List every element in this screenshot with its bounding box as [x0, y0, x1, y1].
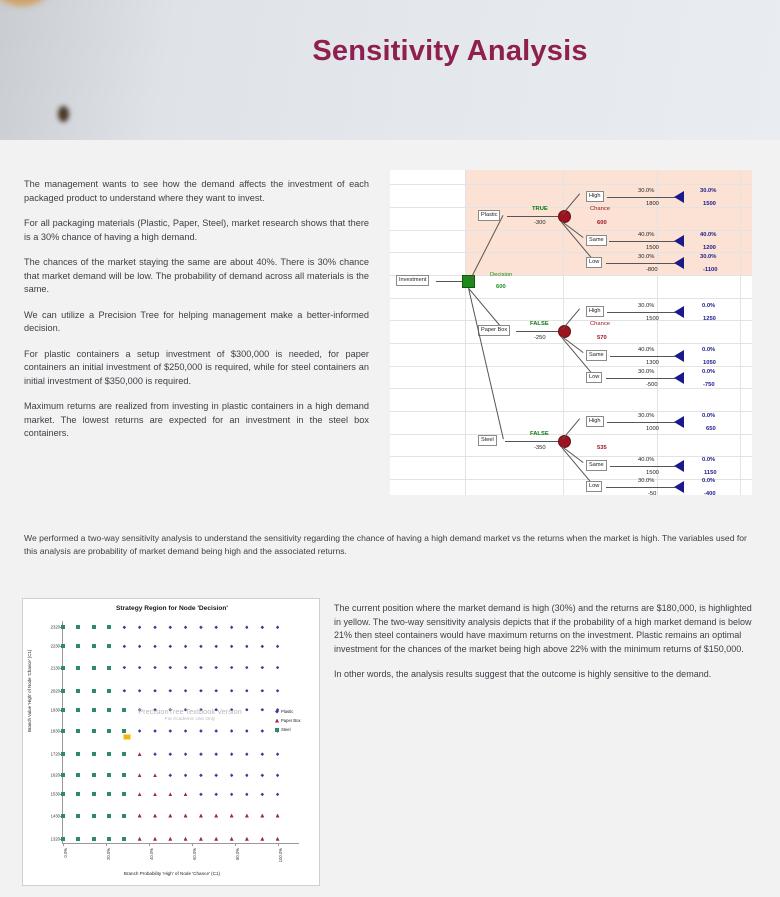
chart-data-point — [276, 814, 280, 818]
chart-data-point — [276, 837, 280, 841]
paper-chance-value: 570 — [597, 335, 607, 341]
chart-data-point — [61, 773, 65, 777]
chart-data-point — [184, 814, 188, 818]
legend-item: Paper Box — [275, 718, 313, 723]
steel-same-payoff: 1500 — [646, 470, 659, 476]
chart-data-point — [245, 708, 249, 712]
tree-root-label[interactable]: Investment — [396, 275, 429, 286]
chart-data-point — [153, 792, 157, 796]
chart-data-point — [76, 708, 80, 712]
paper-high-prob: 30.0% — [638, 303, 654, 309]
intro-text-column: The management wants to see how the dema… — [24, 178, 369, 453]
plastic-low-prob: 30.0% — [638, 254, 654, 260]
chart-data-point — [61, 752, 65, 756]
chart-data-point — [199, 814, 203, 818]
chart-data-point — [199, 752, 203, 756]
end-node — [674, 372, 684, 384]
end-node — [674, 191, 684, 203]
chart-data-point — [107, 666, 111, 670]
chart-data-point — [184, 837, 188, 841]
end-node — [674, 235, 684, 247]
chart-data-point — [199, 708, 203, 712]
chart-data-point — [276, 666, 280, 670]
chart-data-point — [214, 645, 218, 649]
chart-data-point — [261, 774, 265, 778]
chart-data-point — [214, 837, 218, 841]
plastic-same-rprob: 40.0% — [700, 232, 716, 238]
chart-data-point — [214, 689, 218, 693]
steel-outcome-low[interactable]: Low — [586, 481, 602, 492]
chart-data-point — [230, 626, 234, 630]
chart-data-point — [168, 774, 172, 778]
chart-data-point — [153, 773, 157, 777]
steel-same-prob: 40.0% — [638, 457, 654, 463]
x-axis-tick-label: 100.0% — [278, 848, 283, 862]
chart-data-point — [107, 814, 111, 818]
chart-legend: PlasticPaper BoxSteel — [275, 709, 313, 736]
plastic-cost: -300 — [534, 220, 546, 226]
chart-data-point — [276, 645, 280, 649]
chart-data-point — [107, 689, 111, 693]
chart-data-point — [184, 792, 188, 796]
chart-data-point — [168, 837, 172, 841]
chart-data-point — [230, 708, 234, 712]
plastic-same-payoff: 1500 — [646, 245, 659, 251]
chart-data-point — [260, 814, 264, 818]
end-node — [674, 257, 684, 269]
chart-data-point — [122, 708, 126, 712]
legend-item: Steel — [275, 727, 313, 732]
plastic-high-rprob: 30.0% — [700, 188, 716, 194]
end-node — [674, 306, 684, 318]
chart-data-point — [214, 774, 218, 778]
chart-data-point — [230, 645, 234, 649]
steel-low-prob: 30.0% — [638, 478, 654, 484]
chart-data-point — [107, 792, 111, 796]
chart-data-point — [168, 729, 172, 733]
plastic-low-payoff: -800 — [646, 267, 658, 273]
chart-data-point — [184, 666, 188, 670]
chart-data-point — [107, 837, 111, 841]
chart-data-point — [199, 837, 203, 841]
chart-data-point — [199, 774, 203, 778]
chart-data-point — [184, 729, 188, 733]
chart-data-point — [261, 708, 265, 712]
tree-branch-paper-box[interactable]: Paper Box — [478, 325, 510, 336]
chart-data-point — [76, 837, 80, 841]
plastic-outcome-low[interactable]: Low — [586, 257, 602, 268]
chart-data-point — [276, 752, 280, 756]
plastic-same-rpay: 1200 — [703, 245, 716, 251]
chart-data-point — [199, 689, 203, 693]
chart-data-point — [261, 645, 265, 649]
chart-data-point — [153, 729, 157, 733]
paper-low-prob: 30.0% — [638, 369, 654, 375]
chart-data-point — [261, 793, 265, 797]
plastic-high-prob: 30.0% — [638, 188, 654, 194]
steel-outcome-high[interactable]: High — [586, 416, 604, 427]
chart-data-point — [153, 689, 157, 693]
chart-data-point — [123, 626, 127, 630]
paper-same-rprob: 0.0% — [702, 347, 715, 353]
plastic-outcome-same[interactable]: Same — [586, 235, 607, 246]
chart-data-point — [184, 774, 188, 778]
x-axis-tick-mark — [149, 843, 150, 846]
tree-branch-plastic[interactable]: Plastic — [478, 210, 500, 221]
chart-data-point — [245, 645, 249, 649]
x-axis-tick-mark — [278, 843, 279, 846]
chart-data-point — [199, 729, 203, 733]
steel-high-rprob: 0.0% — [702, 413, 715, 419]
chart-data-point — [199, 645, 203, 649]
paper-same-payoff: 1300 — [646, 360, 659, 366]
chart-data-point — [138, 689, 142, 693]
steel-same-rpay: 1150 — [704, 470, 717, 476]
chart-data-point — [168, 645, 172, 649]
strategy-region-chart: Strategy Region for Node 'Decision' Bran… — [22, 598, 320, 886]
steel-low-payoff: -50 — [648, 491, 656, 495]
chart-data-point — [230, 793, 234, 797]
chart-data-point — [245, 837, 249, 841]
chart-data-point — [107, 752, 111, 756]
chart-data-point — [92, 814, 96, 818]
chart-data-point — [230, 837, 234, 841]
analysis-paragraph-2: In other words, the analysis results sug… — [334, 668, 754, 682]
plastic-high-rpay: 1500 — [703, 201, 716, 207]
chart-data-point — [138, 729, 142, 733]
x-axis-tick-label: 40.0% — [149, 848, 154, 860]
page-body: The management wants to see how the dema… — [0, 140, 780, 897]
chart-data-point — [76, 773, 80, 777]
x-axis-tick-mark — [63, 843, 64, 846]
chart-data-point — [76, 666, 80, 670]
chart-data-point — [138, 837, 142, 841]
intro-paragraph-3: The chances of the market staying the sa… — [24, 256, 369, 297]
chart-data-point — [122, 814, 126, 818]
chart-data-point — [245, 793, 249, 797]
intro-paragraph-6: Maximum returns are realized from invest… — [24, 400, 369, 441]
chart-data-point — [276, 689, 280, 693]
chart-data-point — [107, 729, 111, 733]
chart-data-point — [230, 774, 234, 778]
chart-data-point — [76, 644, 80, 648]
y-axis-tick-label: 1430 — [51, 813, 60, 818]
chart-data-point — [245, 774, 249, 778]
chart-data-point — [184, 752, 188, 756]
paper-low-rprob: 0.0% — [702, 369, 715, 375]
y-axis-tick-label: 1530 — [51, 792, 60, 797]
chart-data-point — [230, 689, 234, 693]
decision-node[interactable] — [462, 275, 475, 288]
x-axis-tick-label: 60.0% — [192, 848, 197, 860]
chart-data-point — [276, 793, 280, 797]
chart-data-point — [261, 752, 265, 756]
paper-chance-title: Chance — [590, 321, 610, 327]
chart-data-point — [153, 645, 157, 649]
legend-marker-icon — [275, 719, 279, 723]
chart-data-point — [92, 837, 96, 841]
chart-data-point — [107, 773, 111, 777]
steel-flag: FALSE — [530, 431, 549, 437]
chart-data-point — [245, 814, 249, 818]
chart-data-point — [138, 645, 142, 649]
intro-paragraph-5: For plastic containers a setup investmen… — [24, 348, 369, 389]
chart-data-point — [261, 689, 265, 693]
chart-data-point — [138, 814, 142, 818]
chart-data-point — [138, 708, 142, 712]
chart-data-point — [123, 666, 127, 670]
chart-data-point — [61, 729, 65, 733]
chart-data-point — [123, 645, 127, 649]
chart-data-point — [261, 729, 265, 733]
chart-data-point — [214, 626, 218, 630]
y-axis-tick-label: 2130 — [51, 665, 60, 670]
chart-data-point — [261, 666, 265, 670]
paper-low-payoff: -500 — [646, 382, 658, 388]
chart-data-point — [92, 708, 96, 712]
chart-data-point — [245, 689, 249, 693]
decision-tree-diagram: Investment Decision 600 Plastic TRUE -30… — [390, 170, 752, 495]
chart-data-point — [184, 645, 188, 649]
chart-data-point — [61, 792, 65, 796]
chart-data-point — [230, 729, 234, 733]
chart-data-point — [92, 666, 96, 670]
chart-data-point — [276, 774, 280, 778]
chart-plot-area: 2320223021302020193018301720162015301430… — [63, 621, 299, 843]
legend-marker-icon — [275, 710, 279, 714]
plastic-flag: TRUE — [532, 206, 548, 212]
y-axis-tick-label: 1720 — [51, 752, 60, 757]
chart-data-point — [153, 666, 157, 670]
intro-paragraph-2: For all packaging materials (Plastic, Pa… — [24, 217, 369, 244]
x-axis-label: Branch Probability 'High' of Node 'Chanc… — [23, 871, 321, 876]
x-axis-tick-mark — [235, 843, 236, 846]
plastic-outcome-high[interactable]: High — [586, 191, 604, 202]
chart-data-point — [61, 708, 65, 712]
plastic-chance-title: Chance — [590, 206, 610, 212]
analysis-text-column: The current position where the market de… — [334, 602, 754, 694]
steel-high-rpay: 650 — [706, 426, 716, 432]
y-axis-tick-label: 2020 — [51, 688, 60, 693]
chart-data-point — [76, 814, 80, 818]
chart-data-point — [214, 729, 218, 733]
chart-data-point — [184, 689, 188, 693]
chart-data-point — [138, 752, 142, 756]
teddy-bear-photo — [0, 0, 160, 140]
steel-chance-value: 535 — [597, 445, 607, 451]
chart-data-point — [138, 666, 142, 670]
x-axis-tick-label: 20.0% — [106, 848, 111, 860]
chart-data-point — [214, 708, 218, 712]
middle-paragraph: We performed a two-way sensitivity analy… — [24, 532, 754, 558]
chart-data-point — [123, 689, 127, 693]
chart-highlight-marker — [124, 735, 131, 740]
chart-data-point — [61, 625, 65, 629]
chart-data-point — [260, 837, 264, 841]
tree-branch-steel[interactable]: Steel — [478, 435, 497, 446]
y-axis-tick-label: 1320 — [51, 836, 60, 841]
end-node — [674, 460, 684, 472]
plastic-low-rprob: 30.0% — [700, 254, 716, 260]
paper-high-payoff: 1500 — [646, 316, 659, 322]
steel-high-payoff: 1000 — [646, 426, 659, 432]
paper-outcome-same[interactable]: Same — [586, 350, 607, 361]
chart-data-point — [61, 814, 65, 818]
page-banner: Sensitivity Analysis — [0, 0, 780, 140]
chart-data-point — [76, 729, 80, 733]
paper-low-rpay: -750 — [703, 382, 715, 388]
chart-data-point — [76, 752, 80, 756]
chart-data-point — [168, 666, 172, 670]
chart-data-point — [230, 752, 234, 756]
chart-data-point — [122, 837, 126, 841]
plastic-high-payoff: 1800 — [646, 201, 659, 207]
decision-title: Decision — [490, 272, 512, 278]
paper-cost: -250 — [534, 335, 546, 341]
x-axis-line — [62, 843, 299, 844]
end-node — [674, 416, 684, 428]
chart-data-point — [261, 626, 265, 630]
chart-data-point — [276, 626, 280, 630]
y-axis-tick-label: 1930 — [51, 707, 60, 712]
chart-data-point — [107, 644, 111, 648]
steel-low-rpay: -400 — [704, 491, 716, 495]
paper-high-rprob: 0.0% — [702, 303, 715, 309]
steel-high-prob: 30.0% — [638, 413, 654, 419]
chart-data-point — [138, 792, 142, 796]
legend-label: Paper Box — [281, 718, 301, 723]
chart-data-point — [214, 666, 218, 670]
plastic-low-rpay: -1100 — [703, 267, 718, 273]
chart-data-point — [153, 708, 157, 712]
y-axis-tick-label: 2320 — [51, 625, 60, 630]
chart-data-point — [168, 752, 172, 756]
chart-data-point — [184, 708, 188, 712]
chart-data-point — [138, 626, 142, 630]
chart-data-point — [92, 729, 96, 733]
analysis-paragraph-1: The current position where the market de… — [334, 602, 754, 656]
chart-data-point — [107, 625, 111, 629]
paper-same-prob: 40.0% — [638, 347, 654, 353]
chart-data-point — [76, 625, 80, 629]
chart-data-point — [245, 752, 249, 756]
steel-same-rprob: 0.0% — [702, 457, 715, 463]
chart-data-point — [61, 644, 65, 648]
chart-data-point — [122, 792, 126, 796]
end-node — [674, 350, 684, 362]
chart-data-point — [199, 626, 203, 630]
x-axis-tick-label: 0.0% — [63, 848, 68, 858]
chart-title: Strategy Region for Node 'Decision' — [23, 605, 321, 612]
chart-data-point — [199, 666, 203, 670]
steel-low-rprob: 0.0% — [702, 478, 715, 484]
chart-data-point — [168, 814, 172, 818]
paper-outcome-low[interactable]: Low — [586, 372, 602, 383]
chart-data-point — [230, 814, 234, 818]
paper-same-rpay: 1050 — [703, 360, 716, 366]
x-axis-tick-mark — [192, 843, 193, 846]
chart-data-point — [214, 814, 218, 818]
chart-data-point — [168, 689, 172, 693]
chart-data-point — [92, 625, 96, 629]
intro-paragraph-4: We can utilize a Precision Tree for help… — [24, 309, 369, 336]
chart-data-point — [92, 689, 96, 693]
plastic-same-prob: 40.0% — [638, 232, 654, 238]
page-title: Sensitivity Analysis — [0, 35, 780, 68]
steel-outcome-same[interactable]: Same — [586, 460, 607, 471]
chart-data-point — [92, 644, 96, 648]
chart-data-point — [199, 793, 203, 797]
bear-eye — [58, 106, 69, 122]
y-axis-tick-label: 2230 — [51, 644, 60, 649]
x-axis-tick-label: 80.0% — [235, 848, 240, 860]
legend-marker-icon — [275, 728, 279, 732]
chart-data-point — [122, 773, 126, 777]
chart-data-point — [230, 666, 234, 670]
paper-flag: FALSE — [530, 321, 549, 327]
chart-data-point — [168, 792, 172, 796]
chart-data-point — [153, 752, 157, 756]
y-axis-tick-label: 1830 — [51, 728, 60, 733]
chart-data-point — [61, 689, 65, 693]
chart-data-point — [184, 626, 188, 630]
legend-label: Plastic — [281, 709, 293, 714]
chart-data-point — [61, 837, 65, 841]
chart-data-point — [245, 729, 249, 733]
steel-cost: -350 — [534, 445, 546, 451]
chart-data-point — [107, 708, 111, 712]
chart-data-point — [214, 752, 218, 756]
chart-data-point — [61, 666, 65, 670]
y-axis-label: Branch Value 'High' of Node 'Chance' (C1… — [27, 650, 32, 732]
chart-data-point — [122, 752, 126, 756]
chart-data-point — [168, 626, 172, 630]
chart-data-point — [153, 837, 157, 841]
chart-data-point — [245, 666, 249, 670]
plastic-chance-value: 600 — [597, 220, 607, 226]
chart-data-point — [168, 708, 172, 712]
y-axis-tick-label: 1620 — [51, 773, 60, 778]
paper-outcome-high[interactable]: High — [586, 306, 604, 317]
legend-item: Plastic — [275, 709, 313, 714]
chart-data-point — [92, 773, 96, 777]
x-axis-tick-mark — [106, 843, 107, 846]
chart-data-point — [138, 773, 142, 777]
chart-data-point — [214, 793, 218, 797]
chart-data-point — [92, 752, 96, 756]
legend-label: Steel — [281, 727, 291, 732]
chart-data-point — [153, 814, 157, 818]
chart-data-point — [153, 626, 157, 630]
chart-data-point — [122, 729, 126, 733]
paper-high-rpay: 1250 — [703, 316, 716, 322]
bear-ear — [0, 0, 54, 6]
chart-data-point — [76, 792, 80, 796]
end-node — [674, 481, 684, 493]
decision-value: 600 — [496, 284, 506, 290]
intro-paragraph-1: The management wants to see how the dema… — [24, 178, 369, 205]
chart-data-point — [76, 689, 80, 693]
chart-data-point — [245, 626, 249, 630]
chart-data-point — [92, 792, 96, 796]
